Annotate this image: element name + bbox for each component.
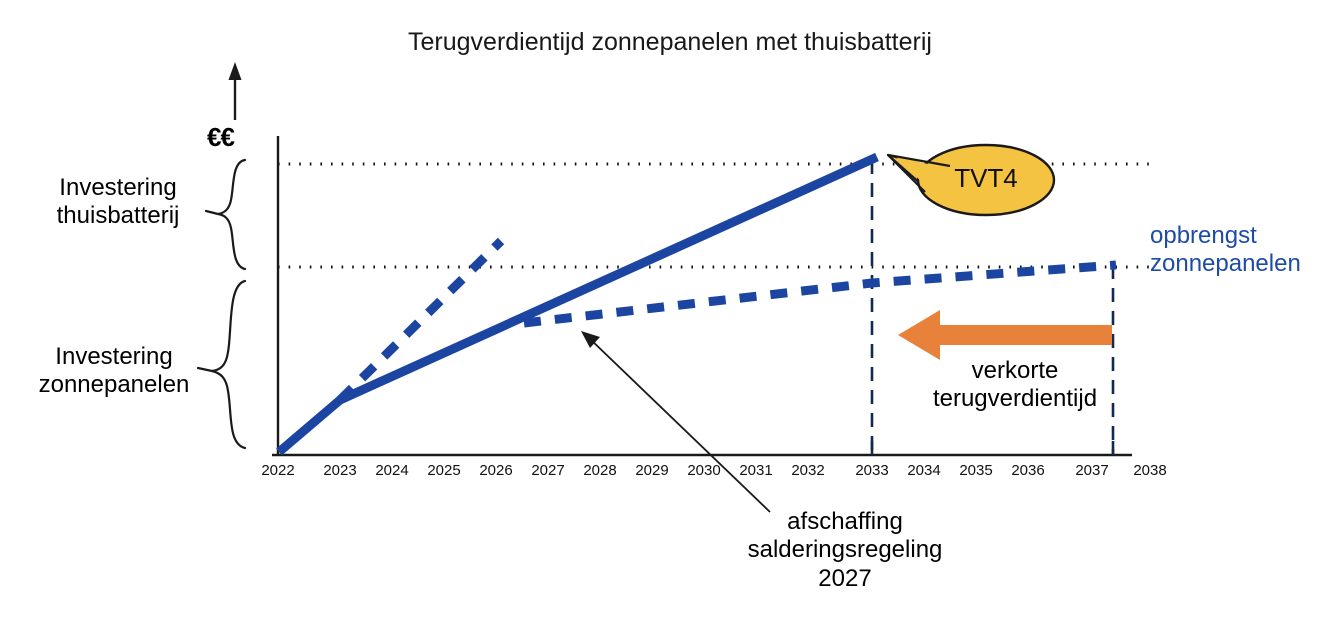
label-investering-thuisbatterij: Investering thuisbatterij <box>22 174 214 231</box>
xtick-label: 2022 <box>252 462 304 479</box>
label-investering-zonnepanelen: Investering zonnepanelen <box>14 343 214 400</box>
legend-label-opbrengst-zonnepanelen: opbrengst zonnepanelen <box>1150 222 1340 279</box>
y-axis-direction-arrow <box>229 62 242 120</box>
xtick-label: 2025 <box>418 462 470 479</box>
arrow-verkorte-terugverdientijd <box>898 310 1112 360</box>
xtick-label: 2023 <box>314 462 366 479</box>
xtick-label: 2029 <box>626 462 678 479</box>
series-line-oude-salderingsregeling <box>340 241 501 400</box>
chart-figure <box>0 0 1340 630</box>
xtick-label: 2033 <box>846 462 898 479</box>
annotation-afschaffing-salderingsregeling: afschaffing salderingsregeling 2027 <box>700 508 990 593</box>
leader-arrow-afschaffing <box>581 331 770 512</box>
chart-canvas: Terugverdientijd zonnepanelen met thuisb… <box>0 0 1340 630</box>
xtick-label: 2030 <box>678 462 730 479</box>
chart-title: Terugverdientijd zonnepanelen met thuisb… <box>0 28 1340 58</box>
xtick-label: 2027 <box>522 462 574 479</box>
xtick-label: 2036 <box>1002 462 1054 479</box>
xtick-label: 2032 <box>782 462 834 479</box>
series-line-opbrengst-met-thuisbatterij <box>279 157 877 452</box>
xtick-label: 2035 <box>950 462 1002 479</box>
xtick-label: 2031 <box>730 462 782 479</box>
label-verkorte-terugverdientijd: verkorte terugverdientijd <box>905 357 1125 414</box>
xtick-label: 2028 <box>574 462 626 479</box>
callout-tvt4-label: TVT4 <box>921 163 1051 194</box>
y-axis-label: €€ <box>207 122 234 153</box>
xtick-label: 2037 <box>1066 462 1118 479</box>
xtick-label: 2034 <box>898 462 950 479</box>
xtick-label: 2026 <box>470 462 522 479</box>
xtick-label: 2024 <box>366 462 418 479</box>
xtick-label: 2038 <box>1124 462 1176 479</box>
